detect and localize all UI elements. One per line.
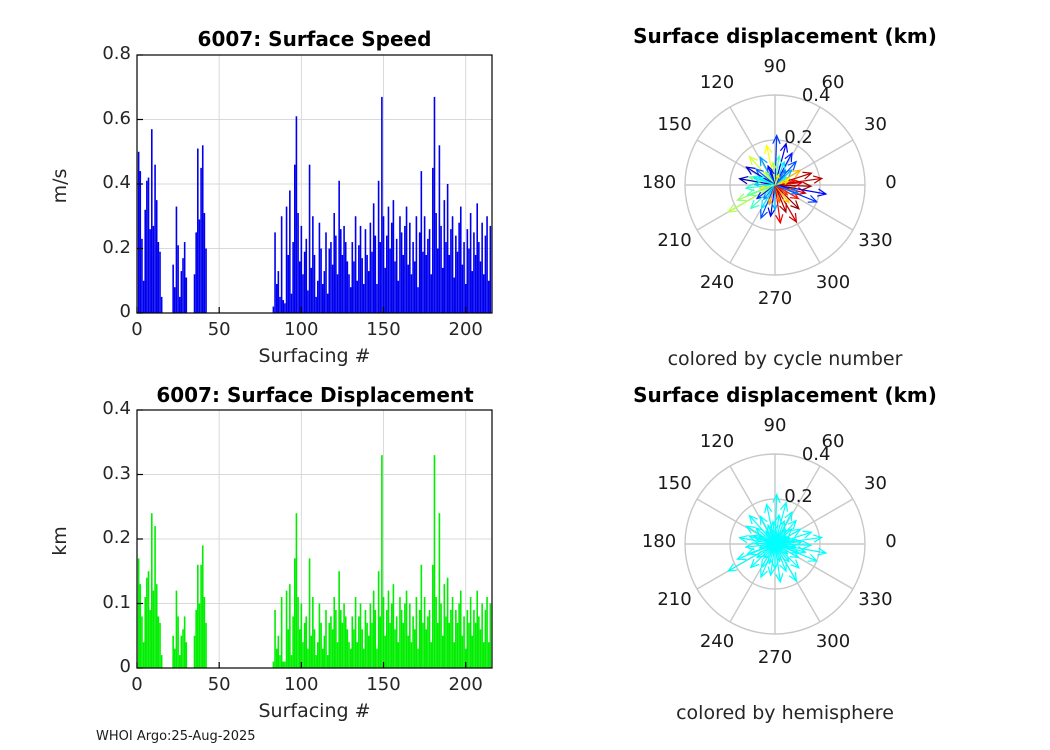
polar-cycle-angle-label: 210 — [645, 230, 705, 251]
polar-hemisphere-polar-area — [685, 454, 865, 634]
polar-hemisphere-angle-label: 90 — [745, 415, 805, 436]
bar — [200, 168, 202, 313]
bar — [485, 610, 487, 668]
bar — [404, 604, 406, 669]
bar — [401, 610, 403, 668]
bar — [299, 629, 301, 668]
bar — [141, 239, 143, 313]
polar-cycle-angle-label: 120 — [687, 72, 747, 93]
polar-hemisphere-angle-label: 330 — [845, 589, 905, 610]
speed-y-tick-label: 0.4 — [71, 172, 131, 193]
bar — [394, 629, 396, 668]
polar-hemisphere-radial-label: 0.2 — [773, 486, 825, 507]
bar — [365, 229, 367, 313]
bar — [483, 274, 485, 313]
bar — [294, 558, 296, 668]
bar — [314, 629, 316, 668]
bar — [427, 616, 429, 668]
bar — [159, 623, 161, 668]
figure-footer: WHOI Argo:25-Aug-2025 — [96, 729, 256, 744]
bar — [412, 242, 414, 313]
bar — [315, 297, 317, 313]
polar-cycle-vectors — [728, 136, 826, 223]
bar — [304, 623, 306, 668]
bar — [398, 281, 400, 313]
displacement-y-tick-label: 0.3 — [71, 463, 131, 484]
bar — [315, 655, 317, 668]
bar — [468, 623, 470, 668]
bar — [332, 265, 334, 313]
bar — [350, 649, 352, 668]
bar — [289, 584, 291, 668]
bar — [148, 178, 150, 313]
bar — [327, 655, 329, 668]
bar — [281, 597, 283, 668]
polar-hemisphere-angle-label: 210 — [645, 589, 705, 610]
bar — [384, 636, 386, 668]
bar — [158, 616, 160, 668]
bar — [439, 145, 441, 313]
bar — [388, 591, 390, 668]
bar — [414, 629, 416, 668]
bar — [343, 226, 345, 313]
bar — [399, 597, 401, 668]
bar — [174, 287, 176, 313]
bar — [317, 281, 319, 313]
bar — [287, 255, 289, 313]
bar — [448, 623, 450, 668]
bar — [435, 213, 437, 313]
bar — [452, 597, 454, 668]
bar — [468, 249, 470, 314]
bar — [370, 223, 372, 313]
bar — [368, 271, 370, 313]
polar-cycle-angle-label: 0 — [861, 172, 921, 193]
bar — [301, 604, 303, 669]
bar — [360, 226, 362, 313]
bar — [453, 278, 455, 313]
bar — [307, 290, 309, 313]
bar — [291, 294, 293, 313]
displacement-x-tick-label: 150 — [354, 674, 414, 695]
polar-cycle-angle-label: 30 — [845, 114, 905, 135]
bar — [409, 604, 411, 669]
bar — [422, 252, 424, 313]
bar — [319, 604, 321, 669]
bar — [144, 597, 146, 668]
bar — [476, 591, 478, 668]
bar — [328, 623, 330, 668]
bar — [432, 168, 434, 313]
bar — [276, 284, 278, 313]
bar — [361, 629, 363, 668]
bar — [328, 249, 330, 314]
bar — [435, 597, 437, 668]
bar — [151, 513, 153, 668]
bar — [440, 604, 442, 669]
bar — [338, 571, 340, 668]
bar — [278, 636, 280, 668]
polar-hemisphere-radial-label: 0.4 — [790, 444, 842, 465]
bar — [379, 616, 381, 668]
bar — [158, 242, 160, 313]
bar — [470, 597, 472, 668]
speed-x-tick-label: 200 — [436, 319, 496, 340]
bar — [365, 610, 367, 668]
bar — [373, 591, 375, 668]
bar — [286, 591, 288, 668]
bar — [273, 662, 275, 668]
bar — [375, 610, 377, 668]
bar — [391, 604, 393, 669]
bar — [437, 623, 439, 668]
bar — [452, 216, 454, 313]
bar — [195, 610, 197, 668]
bar — [151, 129, 153, 313]
bar — [302, 274, 304, 313]
bar — [154, 165, 156, 313]
bar — [299, 261, 301, 313]
bar — [401, 232, 403, 313]
bar — [434, 455, 436, 668]
bar — [439, 513, 441, 668]
displacement-x-tick-label: 100 — [271, 674, 331, 695]
polar-cycle-chart — [530, 30, 1050, 370]
bar — [398, 642, 400, 668]
bar — [434, 97, 436, 313]
bar — [141, 616, 143, 668]
bar — [172, 636, 174, 668]
bar — [176, 591, 178, 668]
displacement-y-tick-label: 0.2 — [71, 527, 131, 548]
bar — [355, 597, 357, 668]
bar — [312, 597, 314, 668]
bar — [455, 236, 457, 313]
polar-cycle-polar-area — [685, 95, 865, 275]
bar — [416, 597, 418, 668]
surface-displacement-panel: 6007: Surface Displacement km Surfacing … — [0, 375, 520, 750]
bar — [470, 213, 472, 313]
bar — [324, 636, 326, 668]
bar — [205, 623, 207, 668]
bar — [442, 268, 444, 313]
bar — [427, 239, 429, 313]
bar — [342, 255, 344, 313]
bar — [149, 229, 151, 313]
polar-cycle-radial-label: 0.2 — [773, 127, 825, 148]
bar — [421, 171, 423, 313]
bar — [353, 261, 355, 313]
bar — [375, 236, 377, 313]
bar — [296, 513, 298, 668]
bar — [307, 649, 309, 668]
bar — [462, 265, 464, 313]
bar — [332, 629, 334, 668]
bar — [179, 655, 181, 668]
displacement-x-tick-label: 50 — [189, 674, 249, 695]
bar — [480, 261, 482, 313]
bar — [322, 284, 324, 313]
bar — [490, 226, 492, 313]
bar — [450, 229, 452, 313]
bar — [179, 297, 181, 313]
bar — [363, 284, 365, 313]
bar — [347, 629, 349, 668]
bar — [391, 223, 393, 313]
bar — [330, 242, 332, 313]
bar — [333, 597, 335, 668]
displacement-y-tick-label: 0.1 — [71, 592, 131, 613]
bar — [412, 616, 414, 668]
speed-x-tick-label: 0 — [107, 319, 167, 340]
bar — [463, 616, 465, 668]
bar — [194, 274, 196, 313]
bar — [462, 636, 464, 668]
bar — [143, 281, 145, 313]
bar — [177, 245, 179, 313]
bar — [174, 649, 176, 668]
bar — [139, 584, 141, 668]
bar — [373, 203, 375, 313]
bar — [402, 255, 404, 313]
bar — [406, 207, 408, 313]
bar — [284, 303, 286, 313]
bar — [273, 307, 275, 313]
bar — [467, 229, 469, 313]
bar — [407, 636, 409, 668]
bar — [200, 565, 202, 668]
bar — [182, 629, 184, 668]
bar — [337, 642, 339, 668]
displacement-bars — [138, 455, 491, 668]
bar — [296, 116, 298, 313]
bar — [450, 610, 452, 668]
bar — [457, 252, 459, 313]
bar — [274, 232, 276, 313]
bar — [309, 165, 311, 313]
bar — [348, 274, 350, 313]
bar — [475, 623, 477, 668]
displacement-x-tick-label: 200 — [436, 674, 496, 695]
bar — [305, 239, 307, 313]
bar — [154, 526, 156, 668]
bar — [381, 455, 383, 668]
bar — [422, 623, 424, 668]
bar — [473, 610, 475, 668]
bar — [153, 591, 155, 668]
bar — [197, 565, 199, 668]
bar — [186, 278, 188, 313]
bar — [289, 190, 291, 313]
bar — [278, 271, 280, 313]
bar — [143, 642, 145, 668]
bar — [425, 255, 427, 313]
bar — [340, 229, 342, 313]
bar — [281, 216, 283, 313]
bar — [327, 294, 329, 313]
bar — [481, 223, 483, 313]
bar — [366, 255, 368, 313]
bar — [274, 610, 276, 668]
bar — [292, 242, 294, 313]
bar — [186, 642, 188, 668]
bar — [381, 97, 383, 313]
bar — [294, 165, 296, 313]
bar — [394, 261, 396, 313]
bar — [301, 226, 303, 313]
polar-cycle-angle-label: 240 — [687, 272, 747, 293]
speed-x-tick-label: 50 — [189, 319, 249, 340]
polar-cycle-angle-label: 150 — [645, 114, 705, 135]
bar — [360, 604, 362, 669]
bar — [393, 584, 395, 668]
bar — [348, 642, 350, 668]
bar — [429, 610, 431, 668]
bar — [345, 242, 347, 313]
polar-cycle-radial-label: 0.4 — [790, 85, 842, 106]
bar — [284, 662, 286, 668]
bar — [342, 623, 344, 668]
bar — [445, 616, 447, 668]
bar — [279, 655, 281, 668]
bar — [181, 271, 183, 313]
bar — [310, 636, 312, 668]
bar — [279, 297, 281, 313]
bar — [475, 255, 477, 313]
bar — [337, 274, 339, 313]
bar — [148, 571, 150, 668]
bar — [430, 642, 432, 668]
bar — [411, 642, 413, 668]
bar — [161, 297, 163, 313]
bar — [146, 578, 148, 668]
displacement-plot-area — [137, 410, 492, 668]
polar-cycle-angle-label: 330 — [845, 230, 905, 251]
bar — [161, 655, 163, 668]
speed-y-tick-label: 0.2 — [71, 237, 131, 258]
bar — [386, 610, 388, 668]
bar — [176, 207, 178, 313]
bar — [144, 210, 146, 313]
bar — [291, 655, 293, 668]
bar — [156, 584, 158, 668]
bar — [204, 597, 206, 668]
bar — [324, 271, 326, 313]
bar — [378, 571, 380, 668]
bar — [139, 171, 141, 313]
polar-hemisphere-angle-label: 150 — [645, 473, 705, 494]
bar — [478, 242, 480, 313]
bar — [356, 281, 358, 313]
bar — [282, 662, 284, 668]
bar — [370, 604, 372, 669]
bar — [429, 229, 431, 313]
bar — [393, 200, 395, 313]
bar — [347, 261, 349, 313]
bar — [457, 623, 459, 668]
polar-hemisphere-chart — [530, 389, 1050, 719]
bar — [384, 268, 386, 313]
bar — [480, 629, 482, 668]
bar — [430, 274, 432, 313]
bar — [378, 181, 380, 313]
bar — [488, 642, 490, 668]
bar — [379, 242, 381, 313]
bar — [376, 649, 378, 668]
bar — [184, 242, 186, 313]
bar — [481, 604, 483, 669]
bar — [490, 604, 492, 669]
bar — [467, 610, 469, 668]
surface-speed-panel: 6007: Surface Speed m/s Surfacing # 00.2… — [0, 0, 520, 375]
bar — [402, 623, 404, 668]
bar — [363, 649, 365, 668]
bar — [486, 597, 488, 668]
bar — [302, 642, 304, 668]
bar — [195, 232, 197, 313]
bar — [460, 207, 462, 313]
bar — [409, 223, 411, 313]
bar — [396, 616, 398, 668]
bar — [297, 213, 299, 313]
polar-hemisphere-caption: colored by hemisphere — [565, 702, 1005, 724]
bar — [411, 274, 413, 313]
bar — [352, 616, 354, 668]
bar — [399, 216, 401, 313]
bar — [202, 145, 204, 313]
bar — [414, 261, 416, 313]
polar-hemisphere-angle-label: 300 — [803, 631, 863, 652]
speed-x-tick-label: 150 — [354, 319, 414, 340]
bar — [460, 591, 462, 668]
bar — [182, 258, 184, 313]
bar — [287, 629, 289, 668]
bar — [444, 200, 446, 313]
bar — [353, 629, 355, 668]
bar — [471, 636, 473, 668]
bar — [177, 616, 179, 668]
bar — [153, 226, 155, 313]
bar — [325, 232, 327, 313]
bar — [396, 239, 398, 313]
bar — [320, 249, 322, 314]
bar — [202, 545, 204, 668]
bar — [292, 616, 294, 668]
bar — [485, 236, 487, 313]
speed-plot-area — [137, 55, 492, 313]
bar — [419, 610, 421, 668]
speed-y-tick-label: 0.6 — [71, 108, 131, 129]
bar — [194, 636, 196, 668]
bar — [444, 584, 446, 668]
bar — [458, 604, 460, 669]
bar — [282, 300, 284, 313]
bar — [335, 236, 337, 313]
polar-cycle-angle-label: 300 — [803, 272, 863, 293]
bar — [440, 226, 442, 313]
bar — [407, 265, 409, 313]
bar — [138, 558, 140, 668]
bar — [199, 604, 201, 669]
bar — [320, 623, 322, 668]
bar — [421, 565, 423, 668]
bar — [138, 152, 140, 313]
bar — [371, 623, 373, 668]
bar — [286, 207, 288, 313]
bar — [276, 649, 278, 668]
bar — [305, 616, 307, 668]
bar — [330, 616, 332, 668]
